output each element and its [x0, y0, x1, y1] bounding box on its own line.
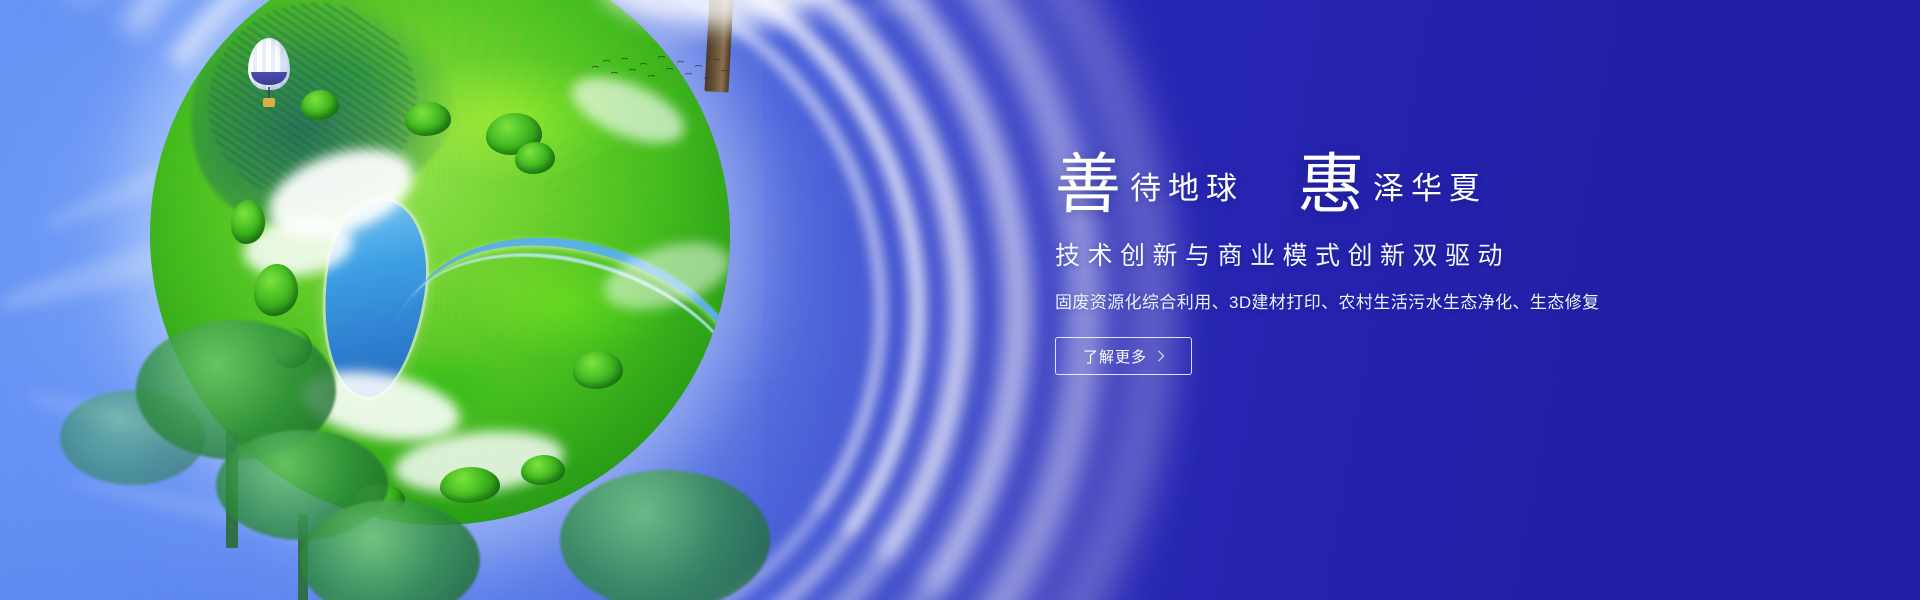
tree-clump	[405, 102, 451, 136]
headline-phrase-1: 善 待地球	[1055, 151, 1244, 214]
bird-icon	[666, 68, 673, 72]
bird-icon	[611, 72, 618, 76]
balloon-basket	[263, 98, 275, 107]
hero-subtitle: 技术创新与商业模式创新双驱动	[1055, 236, 1755, 272]
hero-content: 善 待地球 惠 泽华夏 技术创新与商业模式创新双驱动 固废资源化综合利用、3D建…	[1055, 128, 1755, 375]
bird-icon	[695, 65, 702, 69]
bird-icon	[648, 75, 655, 79]
hot-air-balloon	[248, 38, 290, 110]
headline-rest-dadiqiu: 待地球	[1121, 174, 1244, 205]
learn-more-label: 了解更多	[1083, 346, 1147, 367]
headline-rest-zehuaxia: 泽华夏	[1364, 174, 1487, 205]
silhouette-tree	[300, 500, 490, 600]
headline-char-hui: 惠	[1297, 153, 1365, 216]
hero-banner: 善 待地球 惠 泽华夏 技术创新与商业模式创新双驱动 固废资源化综合利用、3D建…	[0, 0, 1920, 600]
headline-char-shan: 善	[1054, 153, 1122, 216]
page-title: 善 待地球 惠 泽华夏	[1055, 128, 1755, 214]
learn-more-button[interactable]: 了解更多	[1055, 337, 1192, 375]
bird-icon	[713, 59, 720, 63]
bird-icon	[603, 60, 610, 64]
bird-icon	[658, 56, 665, 60]
bird-icon	[677, 61, 684, 65]
hero-description: 固废资源化综合利用、3D建材打印、农村生活污水生态净化、生态修复	[1055, 288, 1755, 313]
chevron-right-icon	[1153, 350, 1164, 361]
tree-canopy	[560, 470, 770, 600]
headline-phrase-2: 惠 泽华夏	[1298, 151, 1487, 214]
tree-clump	[301, 90, 339, 120]
bird-icon	[721, 70, 728, 74]
silhouette-tree	[560, 470, 780, 600]
bird-icon	[704, 77, 711, 81]
bird-flock	[590, 52, 730, 92]
bird-icon	[640, 63, 647, 67]
bird-icon	[621, 58, 628, 62]
bird-icon	[592, 66, 599, 70]
bird-icon	[629, 69, 636, 73]
tree-mist	[600, 0, 830, 27]
tree-canopy	[300, 500, 480, 600]
bird-icon	[685, 73, 692, 77]
